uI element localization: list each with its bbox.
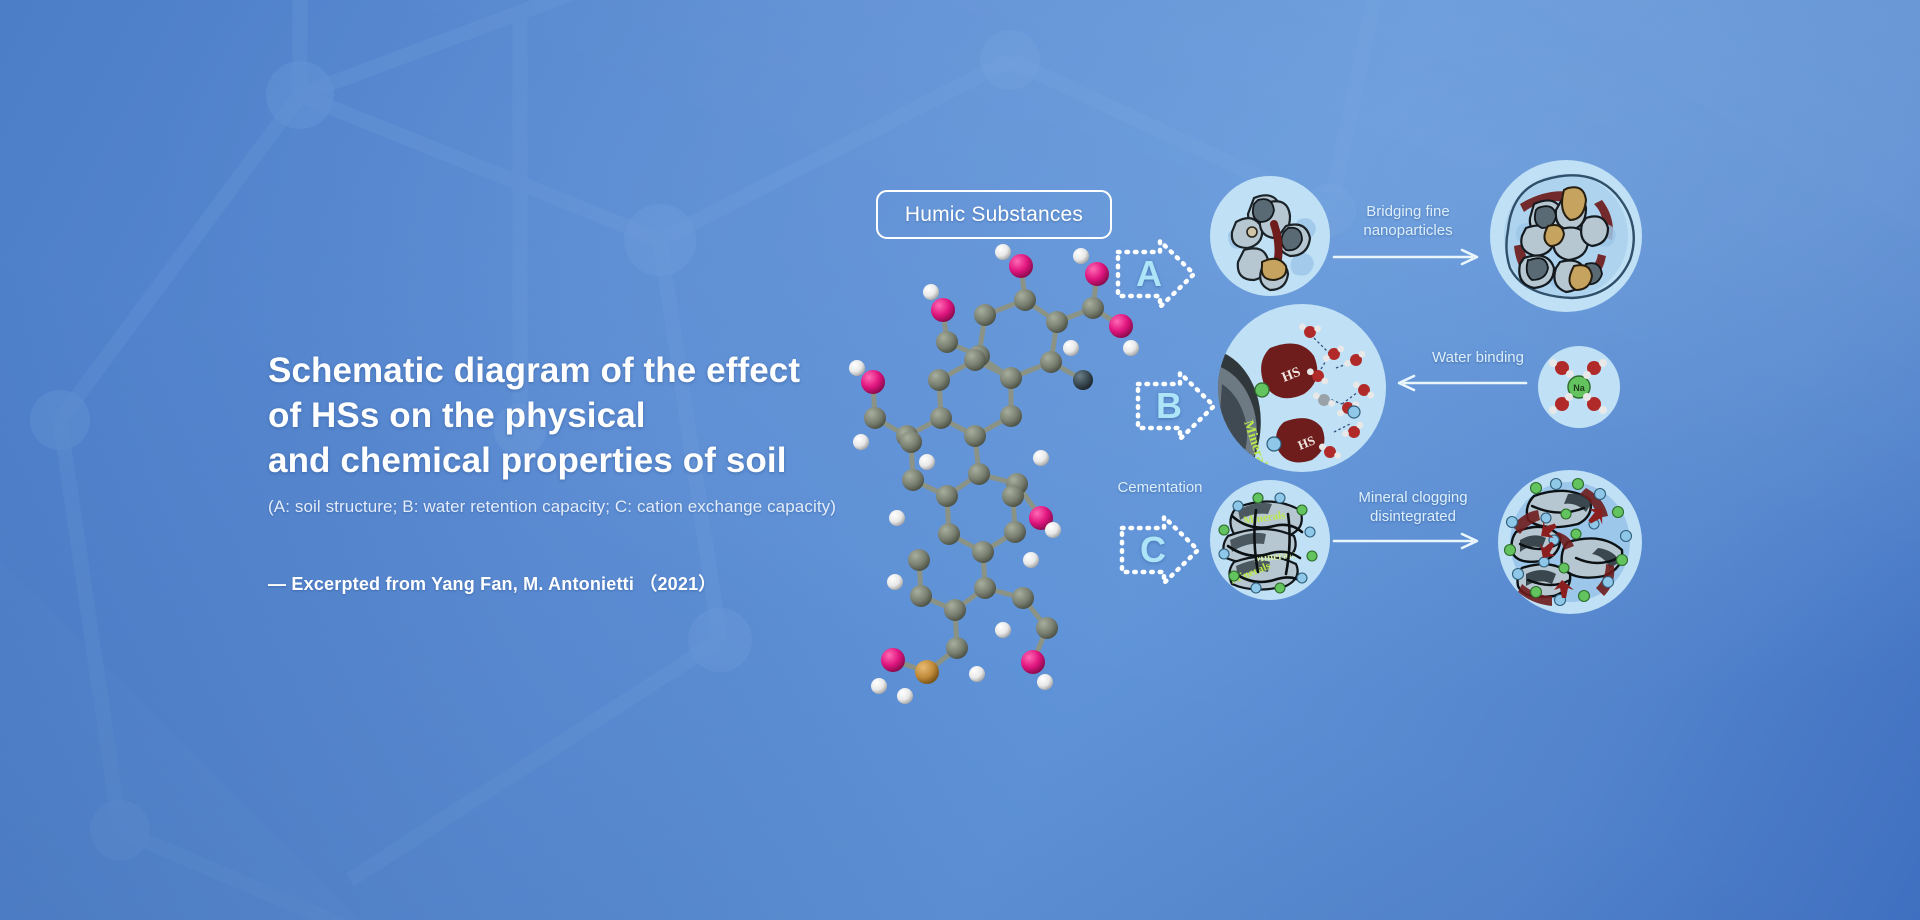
disintegrated-mineral-circle [1498, 470, 1642, 614]
page-title-line-1: Schematic diagram of the effect [268, 348, 888, 393]
row-a-flow-label: Bridging fine nanoparticles [1328, 202, 1488, 240]
page-subtitle: (A: soil structure; B: water retention c… [268, 497, 888, 517]
row-c-pre-label: Cementation [1096, 478, 1224, 497]
cation-na-label: Na [1573, 383, 1585, 393]
page-title-line-2: of HSs on the physical [268, 393, 888, 438]
row-c-flow-arrow-icon [1332, 532, 1486, 550]
soil-aggregate-bound-circle [1490, 160, 1642, 312]
page-title: Schematic diagram of the effect of HSs o… [268, 348, 888, 483]
humic-substances-badge-label: Humic Substances [905, 203, 1083, 227]
left-text-block: Schematic diagram of the effect of HSs o… [268, 348, 888, 596]
cemented-mineral-stack-circle: Minerals Minerals Minerals [1210, 480, 1330, 600]
step-c-letter: C [1116, 512, 1190, 588]
soil-aggregate-loose-circle [1210, 176, 1330, 296]
page-title-line-3: and chemical properties of soil [268, 438, 888, 483]
row-b-flow-label: Water binding [1398, 348, 1558, 367]
process-diagram: A [1100, 140, 1800, 780]
source-attribution: — Excerpted from Yang Fan, M. Antonietti… [268, 570, 888, 596]
row-b-flow-arrow-icon [1396, 374, 1528, 392]
step-a-letter: A [1112, 236, 1186, 312]
step-b-letter: B [1132, 368, 1206, 444]
row-c-flow-label: Mineral clogging disintegrated [1328, 488, 1498, 526]
hydrated-cation-circle: Na [1538, 346, 1620, 428]
hs-mineral-water-circle: Minerals HS HS [1218, 304, 1386, 472]
row-a-flow-arrow-icon [1332, 248, 1486, 266]
